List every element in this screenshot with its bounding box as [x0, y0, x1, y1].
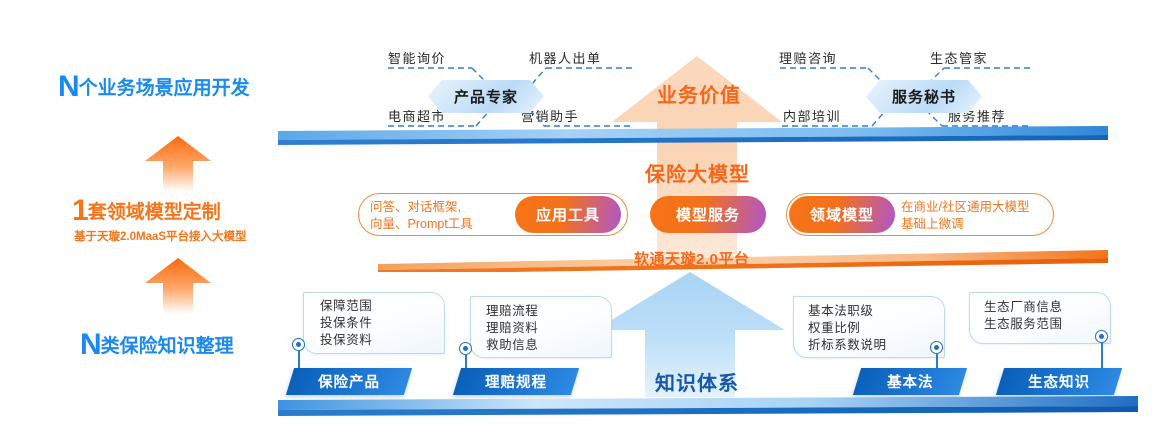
up-arrow-icon-2 [145, 258, 211, 314]
knowledge-layer-bar [278, 396, 1138, 422]
knowledge-tag-insurance-product-label: 保险产品 [318, 371, 380, 392]
pill-app-tools[interactable]: 应用工具 [515, 196, 621, 233]
insurance-llm-title: 保险大模型 [645, 158, 750, 187]
pill-app-tools-label: 应用工具 [536, 204, 600, 225]
up-arrow-icon-1 [145, 136, 211, 192]
knowledge-tag-insurance-product[interactable]: 保险产品 [286, 368, 412, 395]
app-tools-note: 问答、对话框架, 向量、Prompt工具 [370, 199, 510, 233]
rail-text-model: 套领域模型定制 [88, 202, 221, 223]
knowledge-tag-claims-label: 理赔规程 [485, 371, 547, 392]
pill-model-service-label: 模型服务 [676, 204, 740, 225]
rail-text-knowledge: 类保险知识整理 [101, 336, 234, 357]
knowledge-card-basic-law-lines: 基本法职级 权重比例 折标系数说明 [808, 303, 887, 354]
scenario-layer-bar [278, 126, 1108, 148]
knowledge-card-insurance-product-lines: 保障范围 投保条件 投保资料 [320, 298, 372, 349]
rail-big-n-1: N [58, 70, 79, 103]
knowledge-card-claims-lines: 理赔流程 理赔资料 救助信息 [486, 303, 538, 354]
rail-label-knowledge: N类保险知识整理 [80, 330, 234, 360]
rail-subtitle-model: 基于天璇2.0MaaS平台接入大模型 [74, 228, 247, 244]
business-value-label: 业务价值 [657, 79, 741, 108]
platform-label: 软通天璇2.0平台 [634, 248, 749, 269]
knowledge-system-title: 知识体系 [655, 367, 739, 396]
domain-model-note: 在商业/社区通用大模型 基础上微调 [901, 199, 1051, 233]
rail-big-1: 1 [72, 194, 88, 227]
pill-domain-model[interactable]: 领域模型 [789, 196, 895, 233]
hex-product-expert-label: 产品专家 [454, 86, 518, 107]
rail-label-scenarios: N个业务场景应用开发 [58, 72, 250, 102]
knowledge-card-ecosystem-lines: 生态厂商信息 生态服务范围 [984, 299, 1063, 333]
hex-product-expert[interactable]: 产品专家 [428, 80, 544, 113]
knowledge-tag-claims[interactable]: 理赔规程 [453, 368, 579, 395]
pill-domain-model-label: 领域模型 [810, 204, 874, 225]
knowledge-tag-basic-law-label: 基本法 [887, 371, 934, 392]
rail-label-model: 1套领域模型定制 [72, 196, 221, 226]
knowledge-tag-basic-law[interactable]: 基本法 [853, 368, 967, 395]
knowledge-tag-ecosystem-label: 生态知识 [1028, 371, 1090, 392]
hex-service-secretary-label: 服务秘书 [892, 86, 956, 107]
rail-text-scenarios: 个业务场景应用开发 [79, 78, 250, 99]
hex-service-secretary[interactable]: 服务秘书 [866, 80, 982, 113]
rail-big-n-2: N [80, 328, 101, 361]
knowledge-tag-ecosystem[interactable]: 生态知识 [996, 368, 1122, 395]
pill-model-service[interactable]: 模型服务 [650, 196, 766, 233]
diagram-canvas: N个业务场景应用开发 1套领域模型定制 基于天璇2.0MaaS平台接入大模型 N… [0, 0, 1165, 432]
